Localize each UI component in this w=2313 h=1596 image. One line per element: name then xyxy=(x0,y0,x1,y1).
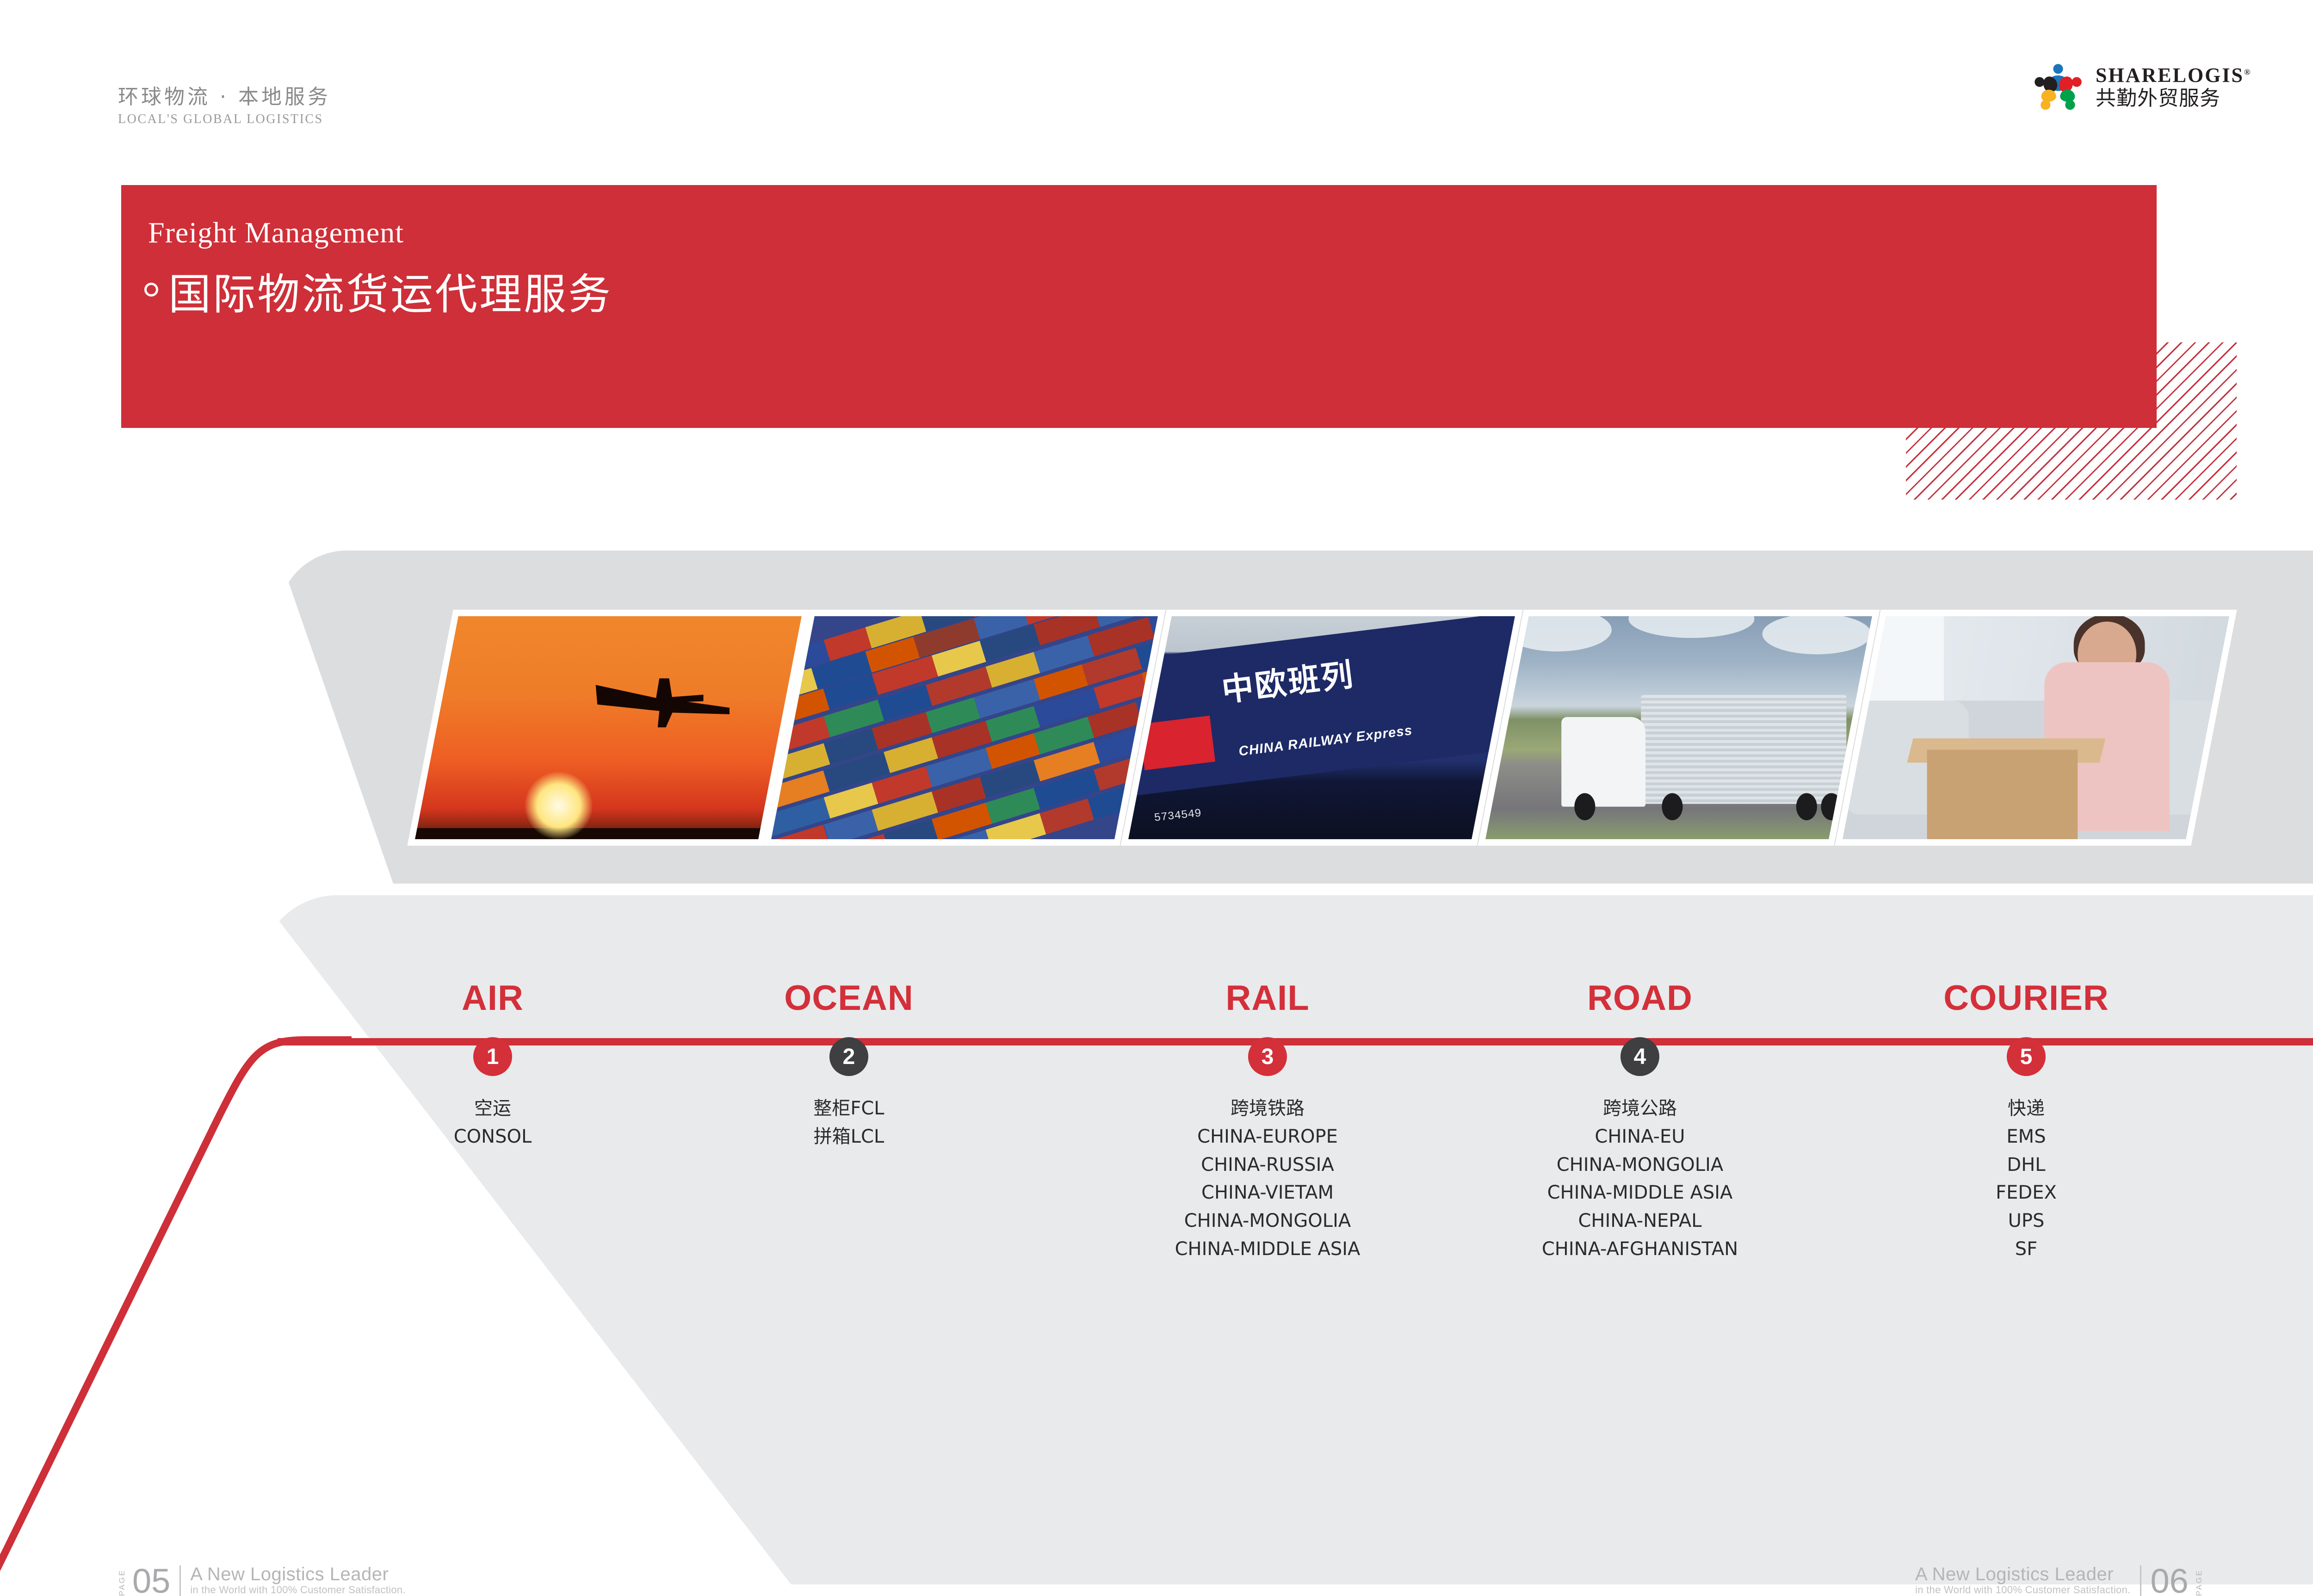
banner-headline-text: 国际物流货运代理服务 xyxy=(168,260,612,322)
list-item: 跨境公路 xyxy=(1457,1095,1823,1123)
list-item: CONSOL xyxy=(393,1123,592,1151)
list-item: 整柜FCL xyxy=(749,1095,948,1123)
list-item: 空运 xyxy=(393,1095,592,1123)
list-item: CHINA-AFGHANISTAN xyxy=(1457,1235,1823,1263)
sharelogis-logo: SHARELOGIS® 共勤外贸服务 xyxy=(2031,60,2251,115)
column-title-air: AIR xyxy=(393,981,592,1016)
timeline-column-air[interactable]: AIR 1 空运 CONSOL xyxy=(393,981,592,1151)
list-item: CHINA-NEPAL xyxy=(1457,1207,1823,1235)
footer-divider xyxy=(179,1565,181,1596)
page-number-left: 05 xyxy=(132,1566,170,1596)
list-item: 拼箱LCL xyxy=(749,1123,948,1151)
list-item: CHINA-VIETAM xyxy=(1106,1179,1429,1207)
page-word-left: PAGE xyxy=(118,1567,126,1596)
timeline-column-courier[interactable]: COURIER 5 快递 EMS DHL FEDEX UPS SF xyxy=(1911,981,2142,1263)
footer-slogan-left: A New Logistics Leader in the World with… xyxy=(190,1565,406,1596)
column-items-rail: 跨境铁路 CHINA-EUROPE CHINA-RUSSIA CHINA-VIE… xyxy=(1106,1095,1429,1263)
column-title-courier: COURIER xyxy=(1911,981,2142,1016)
timeline-marker-4[interactable]: 4 xyxy=(1620,1037,1659,1076)
column-items-road: 跨境公路 CHINA-EU CHINA-MONGOLIA CHINA-MIDDL… xyxy=(1457,1095,1823,1263)
slide-canvas: 环球物流 · 本地服务 LOCAL'S GLOBAL LOGISTICS xyxy=(0,0,2313,1596)
footer-left: PAGE 05 A New Logistics Leader in the Wo… xyxy=(118,1453,406,1596)
banner-eyebrow: Freight Management xyxy=(148,216,404,250)
footer-slogan-line1: A New Logistics Leader xyxy=(190,1565,406,1584)
timeline-marker-2[interactable]: 2 xyxy=(829,1037,868,1076)
list-item: CHINA-MIDDLE ASIA xyxy=(1106,1235,1429,1263)
brand-tagline-en: LOCAL'S GLOBAL LOGISTICS xyxy=(118,112,331,127)
title-banner: Freight Management 国际物流货运代理服务 xyxy=(121,185,2157,428)
page-number-right: 06 xyxy=(2151,1566,2189,1596)
list-item: CHINA-MONGOLIA xyxy=(1457,1151,1823,1179)
column-title-rail: RAIL xyxy=(1106,981,1429,1016)
timeline-marker-3[interactable]: 3 xyxy=(1248,1037,1287,1076)
column-items-courier: 快递 EMS DHL FEDEX UPS SF xyxy=(1911,1095,2142,1263)
timeline-column-road[interactable]: ROAD 4 跨境公路 CHINA-EU CHINA-MONGOLIA CHIN… xyxy=(1457,981,1823,1263)
logo-wordmark: SHARELOGIS® xyxy=(2096,65,2251,86)
list-item: SF xyxy=(1911,1235,2142,1263)
logo-people-ring-icon xyxy=(2031,60,2085,115)
list-item: CHINA-MONGOLIA xyxy=(1106,1207,1429,1235)
footer-slogan-line2: in the World with 100% Customer Satisfac… xyxy=(1915,1584,2131,1596)
circle-bullet-icon xyxy=(144,283,158,297)
list-item: FEDEX xyxy=(1911,1179,2142,1207)
footer-right: A New Logistics Leader in the World with… xyxy=(1915,1453,2203,1596)
timeline-column-rail[interactable]: RAIL 3 跨境铁路 CHINA-EUROPE CHINA-RUSSIA CH… xyxy=(1106,981,1429,1263)
air-freight-photo xyxy=(407,610,809,846)
list-item: EMS xyxy=(1911,1123,2142,1151)
list-item: CHINA-RUSSIA xyxy=(1106,1151,1429,1179)
ocean-freight-photo xyxy=(763,610,1165,846)
column-items-ocean: 整柜FCL 拼箱LCL xyxy=(749,1095,948,1151)
brand-tagline-cn: 环球物流 · 本地服务 xyxy=(118,86,331,109)
column-title-road: ROAD xyxy=(1457,981,1823,1016)
footer-slogan-line2: in the World with 100% Customer Satisfac… xyxy=(190,1584,406,1596)
footer-slogan-line1: A New Logistics Leader xyxy=(1915,1565,2131,1584)
timeline-column-ocean[interactable]: OCEAN 2 整柜FCL 拼箱LCL xyxy=(749,981,948,1151)
list-item: CHINA-EUROPE xyxy=(1106,1123,1429,1151)
courier-photo xyxy=(1835,610,2237,846)
timeline-marker-1[interactable]: 1 xyxy=(473,1037,512,1076)
column-items-air: 空运 CONSOL xyxy=(393,1095,592,1151)
column-title-ocean: OCEAN xyxy=(749,981,948,1016)
footer-slogan-right: A New Logistics Leader in the World with… xyxy=(1915,1565,2131,1596)
list-item: DHL xyxy=(1911,1151,2142,1179)
rail-freight-photo: 中欧班列 CHINA RAILWAY Express 5734549 xyxy=(1120,610,1522,846)
list-item: CHINA-EU xyxy=(1457,1123,1823,1151)
logo-wordmark-cn: 共勤外贸服务 xyxy=(2096,87,2251,110)
banner-headline: 国际物流货运代理服务 xyxy=(144,260,612,322)
footer-divider xyxy=(2140,1565,2141,1596)
road-freight-photo xyxy=(1478,610,1880,846)
list-item: CHINA-MIDDLE ASIA xyxy=(1457,1179,1823,1207)
timeline-marker-5[interactable]: 5 xyxy=(2007,1037,2046,1076)
list-item: 快递 xyxy=(1911,1095,2142,1123)
brand-tagline: 环球物流 · 本地服务 LOCAL'S GLOBAL LOGISTICS xyxy=(118,86,331,127)
rail-car-number: 5734549 xyxy=(1154,807,1202,825)
list-item: 跨境铁路 xyxy=(1106,1095,1429,1123)
registered-mark-icon: ® xyxy=(2244,67,2251,76)
list-item: UPS xyxy=(1911,1207,2142,1235)
page-word-right: PAGE xyxy=(2195,1567,2203,1596)
